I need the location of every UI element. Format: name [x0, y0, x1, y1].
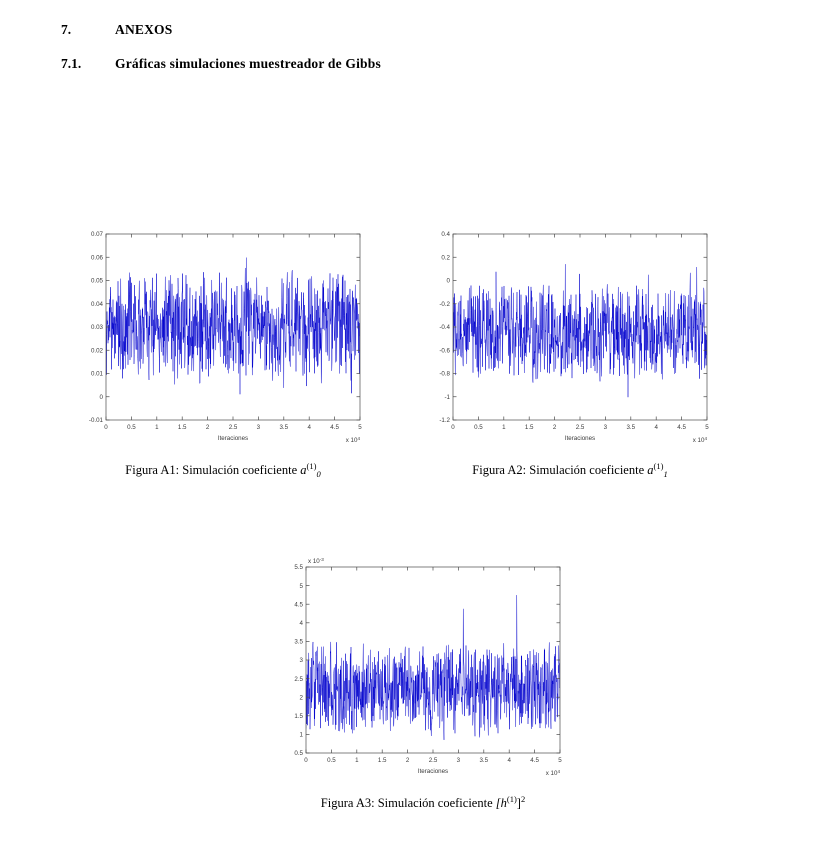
document-page: 7. ANEXOS 7.1. Gráficas simulaciones mue…	[0, 0, 830, 846]
y-tick-label: 0.07	[91, 231, 104, 238]
x-tick-label: 4.5	[330, 424, 339, 431]
y-tick-label: 3.5	[294, 639, 303, 646]
y-tick-label: -0.01	[89, 417, 104, 424]
y-tick-label: 0	[447, 278, 451, 285]
caption-a1-sup: (1)	[307, 461, 317, 471]
x-tick-label: 5	[558, 757, 562, 764]
caption-a3-suffix-sup: 2	[521, 794, 525, 804]
trace-plot-a1: 00.511.522.533.544.55-0.0100.010.020.030…	[78, 222, 368, 454]
x-tick-label: 4	[507, 757, 511, 764]
x-tick-label: 3.5	[626, 424, 635, 431]
y-tick-label: -0.8	[439, 371, 450, 378]
y-tick-label: 0.5	[294, 750, 303, 757]
figure-a1-caption: Figura A1: Simulación coeficiente a(1)0	[78, 461, 368, 479]
x-tick-label: 4	[654, 424, 658, 431]
x-tick-label: 3	[604, 424, 608, 431]
x-axis-multiplier: x 104	[546, 769, 561, 777]
x-tick-label: 0.5	[474, 424, 483, 431]
y-tick-label: 4	[300, 620, 304, 627]
x-tick-label: 2	[553, 424, 557, 431]
trace-series	[453, 264, 707, 397]
y-tick-label: 1	[300, 732, 304, 739]
caption-a3-sup: (1)	[507, 794, 517, 804]
y-tick-label: 5.5	[294, 564, 303, 571]
x-tick-label: 5	[358, 424, 362, 431]
section-title: ANEXOS	[115, 22, 172, 38]
caption-a1-sub: 0	[316, 469, 320, 479]
plot-a1: 00.511.522.533.544.55-0.0100.010.020.030…	[78, 222, 368, 454]
y-tick-label: 0.02	[91, 347, 104, 354]
figure-a3-caption: Figura A3: Simulación coeficiente [h(1)]…	[278, 794, 568, 811]
plot-a2: 00.511.522.533.544.55-1.2-1-0.8-0.6-0.4-…	[425, 222, 715, 454]
y-tick-label: 0.03	[91, 324, 104, 331]
y-tick-label: 2	[300, 694, 304, 701]
x-tick-label: 0	[451, 424, 455, 431]
x-tick-label: 4.5	[530, 757, 539, 764]
x-tick-label: 1	[155, 424, 159, 431]
subsection-title: Gráficas simulaciones muestreador de Gib…	[115, 56, 381, 72]
x-tick-label: 0	[104, 424, 108, 431]
caption-a3-text: Figura A3: Simulación coeficiente	[321, 796, 496, 810]
trace-series	[306, 595, 560, 740]
x-tick-label: 2.5	[229, 424, 238, 431]
caption-a2-sub: 1	[663, 469, 667, 479]
y-tick-label: 0.05	[91, 278, 104, 285]
x-tick-label: 3.5	[479, 757, 488, 764]
y-tick-label: -0.2	[439, 301, 450, 308]
x-tick-label: 1	[502, 424, 506, 431]
x-tick-label: 1.5	[178, 424, 187, 431]
y-tick-label: 0.06	[91, 254, 104, 261]
x-tick-label: 1.5	[525, 424, 534, 431]
y-tick-label: 5	[300, 583, 304, 590]
x-tick-label: 2.5	[576, 424, 585, 431]
caption-a3-symbol: [h	[496, 796, 507, 810]
x-tick-label: 2	[206, 424, 210, 431]
y-tick-label: 0.01	[91, 371, 104, 378]
x-axis-multiplier: x 104	[346, 436, 361, 444]
x-axis-title: Iteraciones	[218, 435, 248, 442]
x-axis-title: Iteraciones	[565, 435, 595, 442]
x-tick-label: 0	[304, 757, 308, 764]
y-tick-label: 0.2	[441, 254, 450, 261]
y-tick-label: -0.4	[439, 324, 450, 331]
x-tick-label: 2.5	[429, 757, 438, 764]
x-tick-label: 1.5	[378, 757, 387, 764]
y-tick-label: 0.4	[441, 231, 450, 238]
figure-a2: 00.511.522.533.544.55-1.2-1-0.8-0.6-0.4-…	[425, 222, 715, 479]
trace-series	[106, 258, 360, 395]
x-tick-label: 3	[457, 757, 461, 764]
figure-a2-caption: Figura A2: Simulación coeficiente a(1)1	[425, 461, 715, 479]
y-tick-label: 1.5	[294, 713, 303, 720]
x-tick-label: 4	[307, 424, 311, 431]
x-tick-label: 1	[355, 757, 359, 764]
section-number: 7.	[61, 22, 71, 38]
x-axis-multiplier: x 104	[693, 436, 708, 444]
x-tick-label: 5	[705, 424, 709, 431]
trace-plot-a2: 00.511.522.533.544.55-1.2-1-0.8-0.6-0.4-…	[425, 222, 715, 454]
x-tick-label: 2	[406, 757, 410, 764]
x-tick-label: 3	[257, 424, 261, 431]
x-tick-label: 0.5	[327, 757, 336, 764]
subsection-number: 7.1.	[61, 56, 81, 72]
x-tick-label: 3.5	[279, 424, 288, 431]
caption-a2-text: Figura A2: Simulación coeficiente	[472, 463, 647, 477]
y-axis-multiplier: x 10-3	[308, 557, 324, 565]
y-tick-label: 3	[300, 657, 304, 664]
y-tick-label: 4.5	[294, 601, 303, 608]
x-axis-title: Iteraciones	[418, 768, 448, 775]
y-tick-label: 2.5	[294, 676, 303, 683]
y-tick-label: -0.6	[439, 347, 450, 354]
caption-a1-text: Figura A1: Simulación coeficiente	[125, 463, 300, 477]
y-tick-label: -1	[444, 394, 450, 401]
caption-a2-sup: (1)	[654, 461, 664, 471]
figure-a3: x 10-300.511.522.533.544.550.511.522.533…	[278, 555, 568, 811]
x-tick-label: 4.5	[677, 424, 686, 431]
plot-a3: x 10-300.511.522.533.544.550.511.522.533…	[278, 555, 568, 787]
figure-a1: 00.511.522.533.544.55-0.0100.010.020.030…	[78, 222, 368, 479]
y-tick-label: 0	[100, 394, 104, 401]
y-tick-label: 0.04	[91, 301, 104, 308]
y-tick-label: -1.2	[439, 417, 450, 424]
trace-plot-a3: x 10-300.511.522.533.544.550.511.522.533…	[278, 555, 568, 787]
x-tick-label: 0.5	[127, 424, 136, 431]
